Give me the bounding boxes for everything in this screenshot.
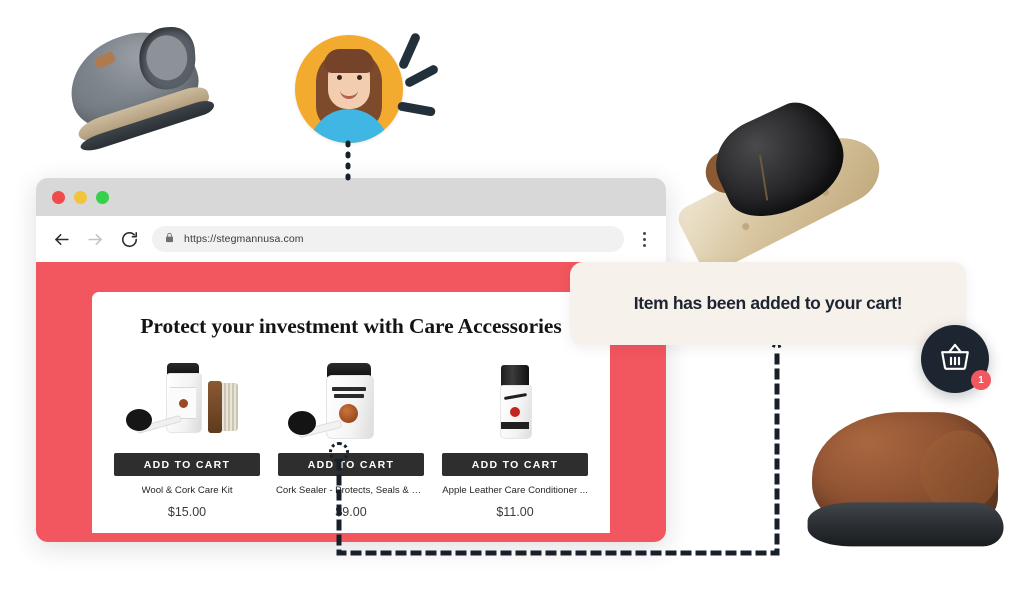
product-price: $9.00 bbox=[335, 505, 366, 519]
avatar-eye-left bbox=[337, 75, 342, 80]
product-grid: ADD TO CART Wool & Cork Care Kit $15.00 … bbox=[92, 359, 610, 519]
product-price: $15.00 bbox=[168, 505, 206, 519]
cart-toast-notification: Item has been added to your cart! bbox=[570, 262, 966, 345]
decor-shoe-black-sandal bbox=[667, 72, 903, 280]
url-text: https://stegmannusa.com bbox=[184, 233, 304, 245]
product-name: Wool & Cork Care Kit bbox=[142, 485, 233, 496]
add-to-cart-button[interactable]: ADD TO CART bbox=[442, 453, 588, 476]
care-accessories-section: Protect your investment with Care Access… bbox=[92, 292, 610, 533]
browser-toolbar: https://stegmannusa.com bbox=[36, 216, 666, 262]
maximize-window-icon[interactable] bbox=[96, 191, 109, 204]
avatar-fringe bbox=[324, 49, 374, 73]
excitement-stroke-icon bbox=[403, 64, 439, 89]
product-image-cork-sealer bbox=[276, 359, 426, 451]
back-arrow-icon[interactable] bbox=[50, 228, 72, 250]
avatar bbox=[295, 35, 403, 143]
product-card[interactable]: ADD TO CART Apple Leather Care Condition… bbox=[440, 359, 590, 519]
cart-count-badge: 1 bbox=[971, 370, 991, 390]
close-window-icon[interactable] bbox=[52, 191, 65, 204]
shopping-basket-icon bbox=[939, 341, 971, 378]
page-title: Protect your investment with Care Access… bbox=[92, 314, 610, 339]
forward-arrow-icon[interactable] bbox=[84, 228, 106, 250]
browser-titlebar bbox=[36, 178, 666, 216]
product-image-care-kit bbox=[112, 359, 262, 451]
browser-menu-icon[interactable] bbox=[636, 228, 652, 250]
cart-button[interactable]: 1 bbox=[921, 325, 989, 393]
decor-shoe-grey-clog bbox=[41, 0, 234, 190]
reload-icon[interactable] bbox=[118, 228, 140, 250]
product-name: Apple Leather Care Conditioner ... bbox=[442, 485, 588, 496]
click-target-marker bbox=[329, 442, 349, 462]
avatar-eye-right bbox=[357, 75, 362, 80]
lock-icon bbox=[164, 230, 175, 248]
scene: https://stegmannusa.com Protect your inv… bbox=[0, 0, 1024, 606]
product-name: Cork Sealer - Protects, Seals & W... bbox=[276, 485, 426, 496]
toast-message: Item has been added to your cart! bbox=[634, 293, 903, 314]
clog-outsole bbox=[808, 502, 1004, 546]
product-image-leather-conditioner bbox=[440, 359, 590, 451]
add-to-cart-button[interactable]: ADD TO CART bbox=[278, 453, 424, 476]
product-card[interactable]: ADD TO CART Wool & Cork Care Kit $15.00 bbox=[112, 359, 262, 519]
minimize-window-icon[interactable] bbox=[74, 191, 87, 204]
browser-window: https://stegmannusa.com Protect your inv… bbox=[36, 178, 666, 542]
product-price: $11.00 bbox=[496, 505, 533, 519]
product-card[interactable]: ADD TO CART Cork Sealer - Protects, Seal… bbox=[276, 359, 426, 519]
avatar-image bbox=[295, 35, 403, 143]
decor-shoe-brown-clog bbox=[791, 387, 1023, 592]
address-bar[interactable]: https://stegmannusa.com bbox=[152, 226, 624, 252]
add-to-cart-button[interactable]: ADD TO CART bbox=[114, 453, 260, 476]
